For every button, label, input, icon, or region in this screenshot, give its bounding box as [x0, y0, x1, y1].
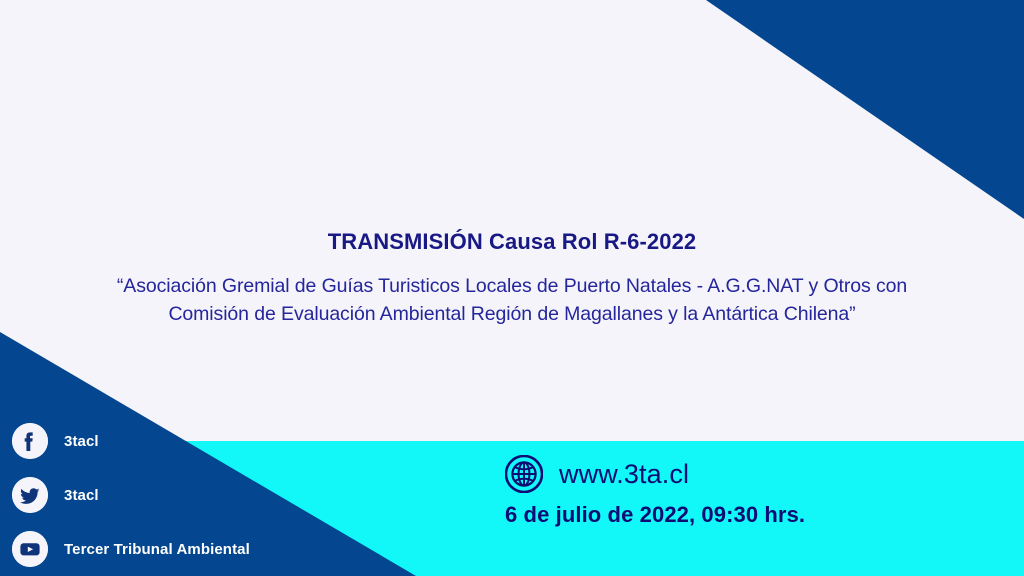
case-parties: “Asociación Gremial de Guías Turisticos … — [0, 272, 1024, 328]
social-link-youtube[interactable]: Tercer Tribunal Ambiental — [12, 522, 342, 576]
social-link-facebook[interactable]: 3tacl — [12, 414, 342, 468]
twitter-icon — [12, 477, 48, 513]
youtube-icon — [12, 531, 48, 567]
facebook-icon — [12, 423, 48, 459]
event-datetime: 6 de julio de 2022, 09:30 hrs. — [505, 502, 925, 528]
page-title: TRANSMISIÓN Causa Rol R-6-2022 — [0, 228, 1024, 256]
social-handle-facebook: 3tacl — [64, 433, 99, 450]
case-parties-line-2: Comisión de Evaluación Ambiental Región … — [46, 300, 978, 328]
headline-block: TRANSMISIÓN Causa Rol R-6-2022 “Asociaci… — [0, 228, 1024, 328]
social-handle-youtube: Tercer Tribunal Ambiental — [64, 541, 250, 558]
social-link-twitter[interactable]: 3tacl — [12, 468, 342, 522]
website-url[interactable]: www.3ta.cl — [559, 459, 689, 490]
social-links-list: 3tacl 3tacl Tercer Tribunal Ambiental — [12, 414, 342, 576]
broadcast-announcement-slide: TRANSMISIÓN Causa Rol R-6-2022 “Asociaci… — [0, 0, 1024, 576]
footer-info: www.3ta.cl 6 de julio de 2022, 09:30 hrs… — [505, 455, 925, 528]
website-row[interactable]: www.3ta.cl — [505, 455, 925, 493]
case-parties-line-1: “Asociación Gremial de Guías Turisticos … — [46, 272, 978, 300]
globe-icon — [505, 455, 543, 493]
social-handle-twitter: 3tacl — [64, 487, 99, 504]
